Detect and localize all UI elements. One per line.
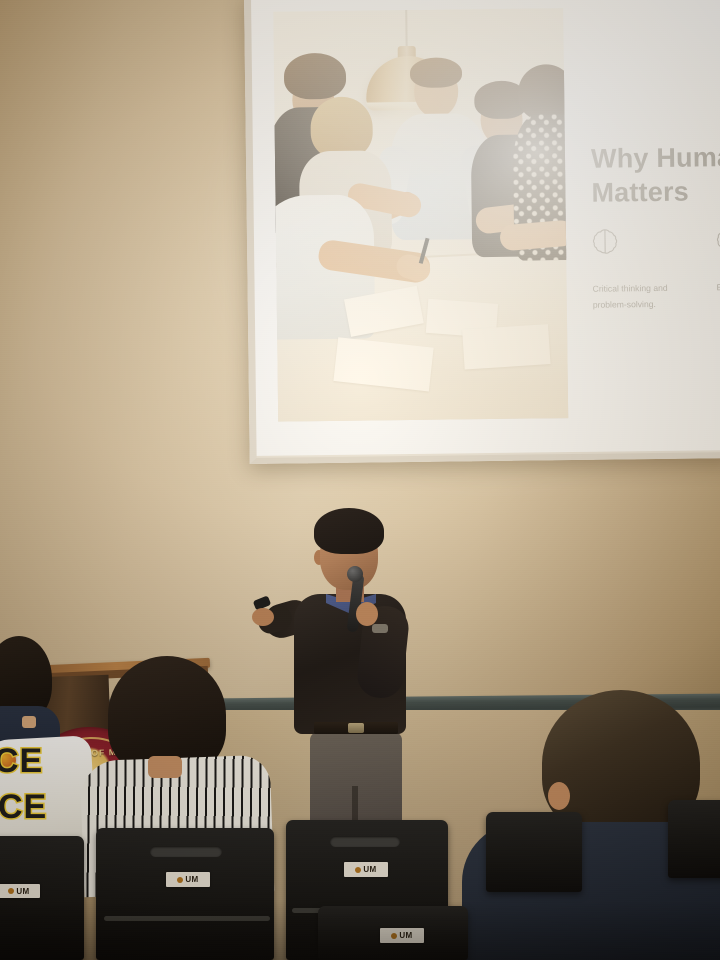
um-dot-icon (177, 877, 183, 883)
slide-feature-columns: Critical thinking and problem-solving. E… (592, 225, 720, 227)
photo-light-wash (273, 8, 568, 422)
brain-icon (592, 227, 618, 254)
microphone-head-icon (347, 566, 363, 582)
slide-heading-line2: Matters (591, 173, 720, 209)
presentation-slide: Why Huma Matters Critical thinking and p… (251, 0, 720, 456)
ear (548, 782, 570, 810)
speaker-presenter (252, 498, 452, 860)
slide-heading-line1: Why Huma (591, 139, 720, 175)
slide-heading: Why Huma Matters (591, 139, 720, 209)
brain-icon (716, 226, 720, 253)
slide-feature-text: E a (717, 278, 720, 295)
chair-handle-slot (150, 846, 222, 857)
floor-shading (0, 900, 720, 960)
jersey-text-line2: CE (0, 790, 47, 824)
chair-logo-text: UM (185, 875, 198, 884)
slide-feature-column: Critical thinking and problem-solving. (592, 227, 689, 313)
neck-skin (148, 756, 182, 778)
speaker-right-hand (356, 602, 378, 626)
belt-buckle (348, 723, 364, 733)
chair-logo-badge: UM (166, 872, 210, 887)
slide-feature-column: E a (716, 225, 720, 295)
chair-logo-badge: UM (344, 862, 388, 877)
um-dot-icon (355, 867, 361, 873)
chair-logo-badge: UM (0, 884, 40, 898)
chair-logo-text: UM (16, 887, 29, 896)
presentation-scene: Why Huma Matters Critical thinking and p… (0, 0, 720, 960)
auditorium-chair[interactable] (486, 812, 582, 892)
auditorium-chair[interactable] (668, 800, 720, 878)
wristwatch-icon (372, 624, 388, 633)
slide-feature-text: Critical thinking and problem-solving. (593, 280, 689, 313)
chair-handle-slot (330, 836, 400, 847)
jersey-text-line1: CE (0, 744, 43, 778)
speaker-left-hand (252, 608, 274, 626)
slide-photo (273, 8, 568, 422)
chair-logo-text: UM (363, 865, 376, 874)
speaker-hair (314, 508, 384, 554)
collar-skin (22, 716, 36, 728)
um-dot-icon (8, 888, 14, 894)
projection-screen: Why Huma Matters Critical thinking and p… (244, 0, 720, 464)
